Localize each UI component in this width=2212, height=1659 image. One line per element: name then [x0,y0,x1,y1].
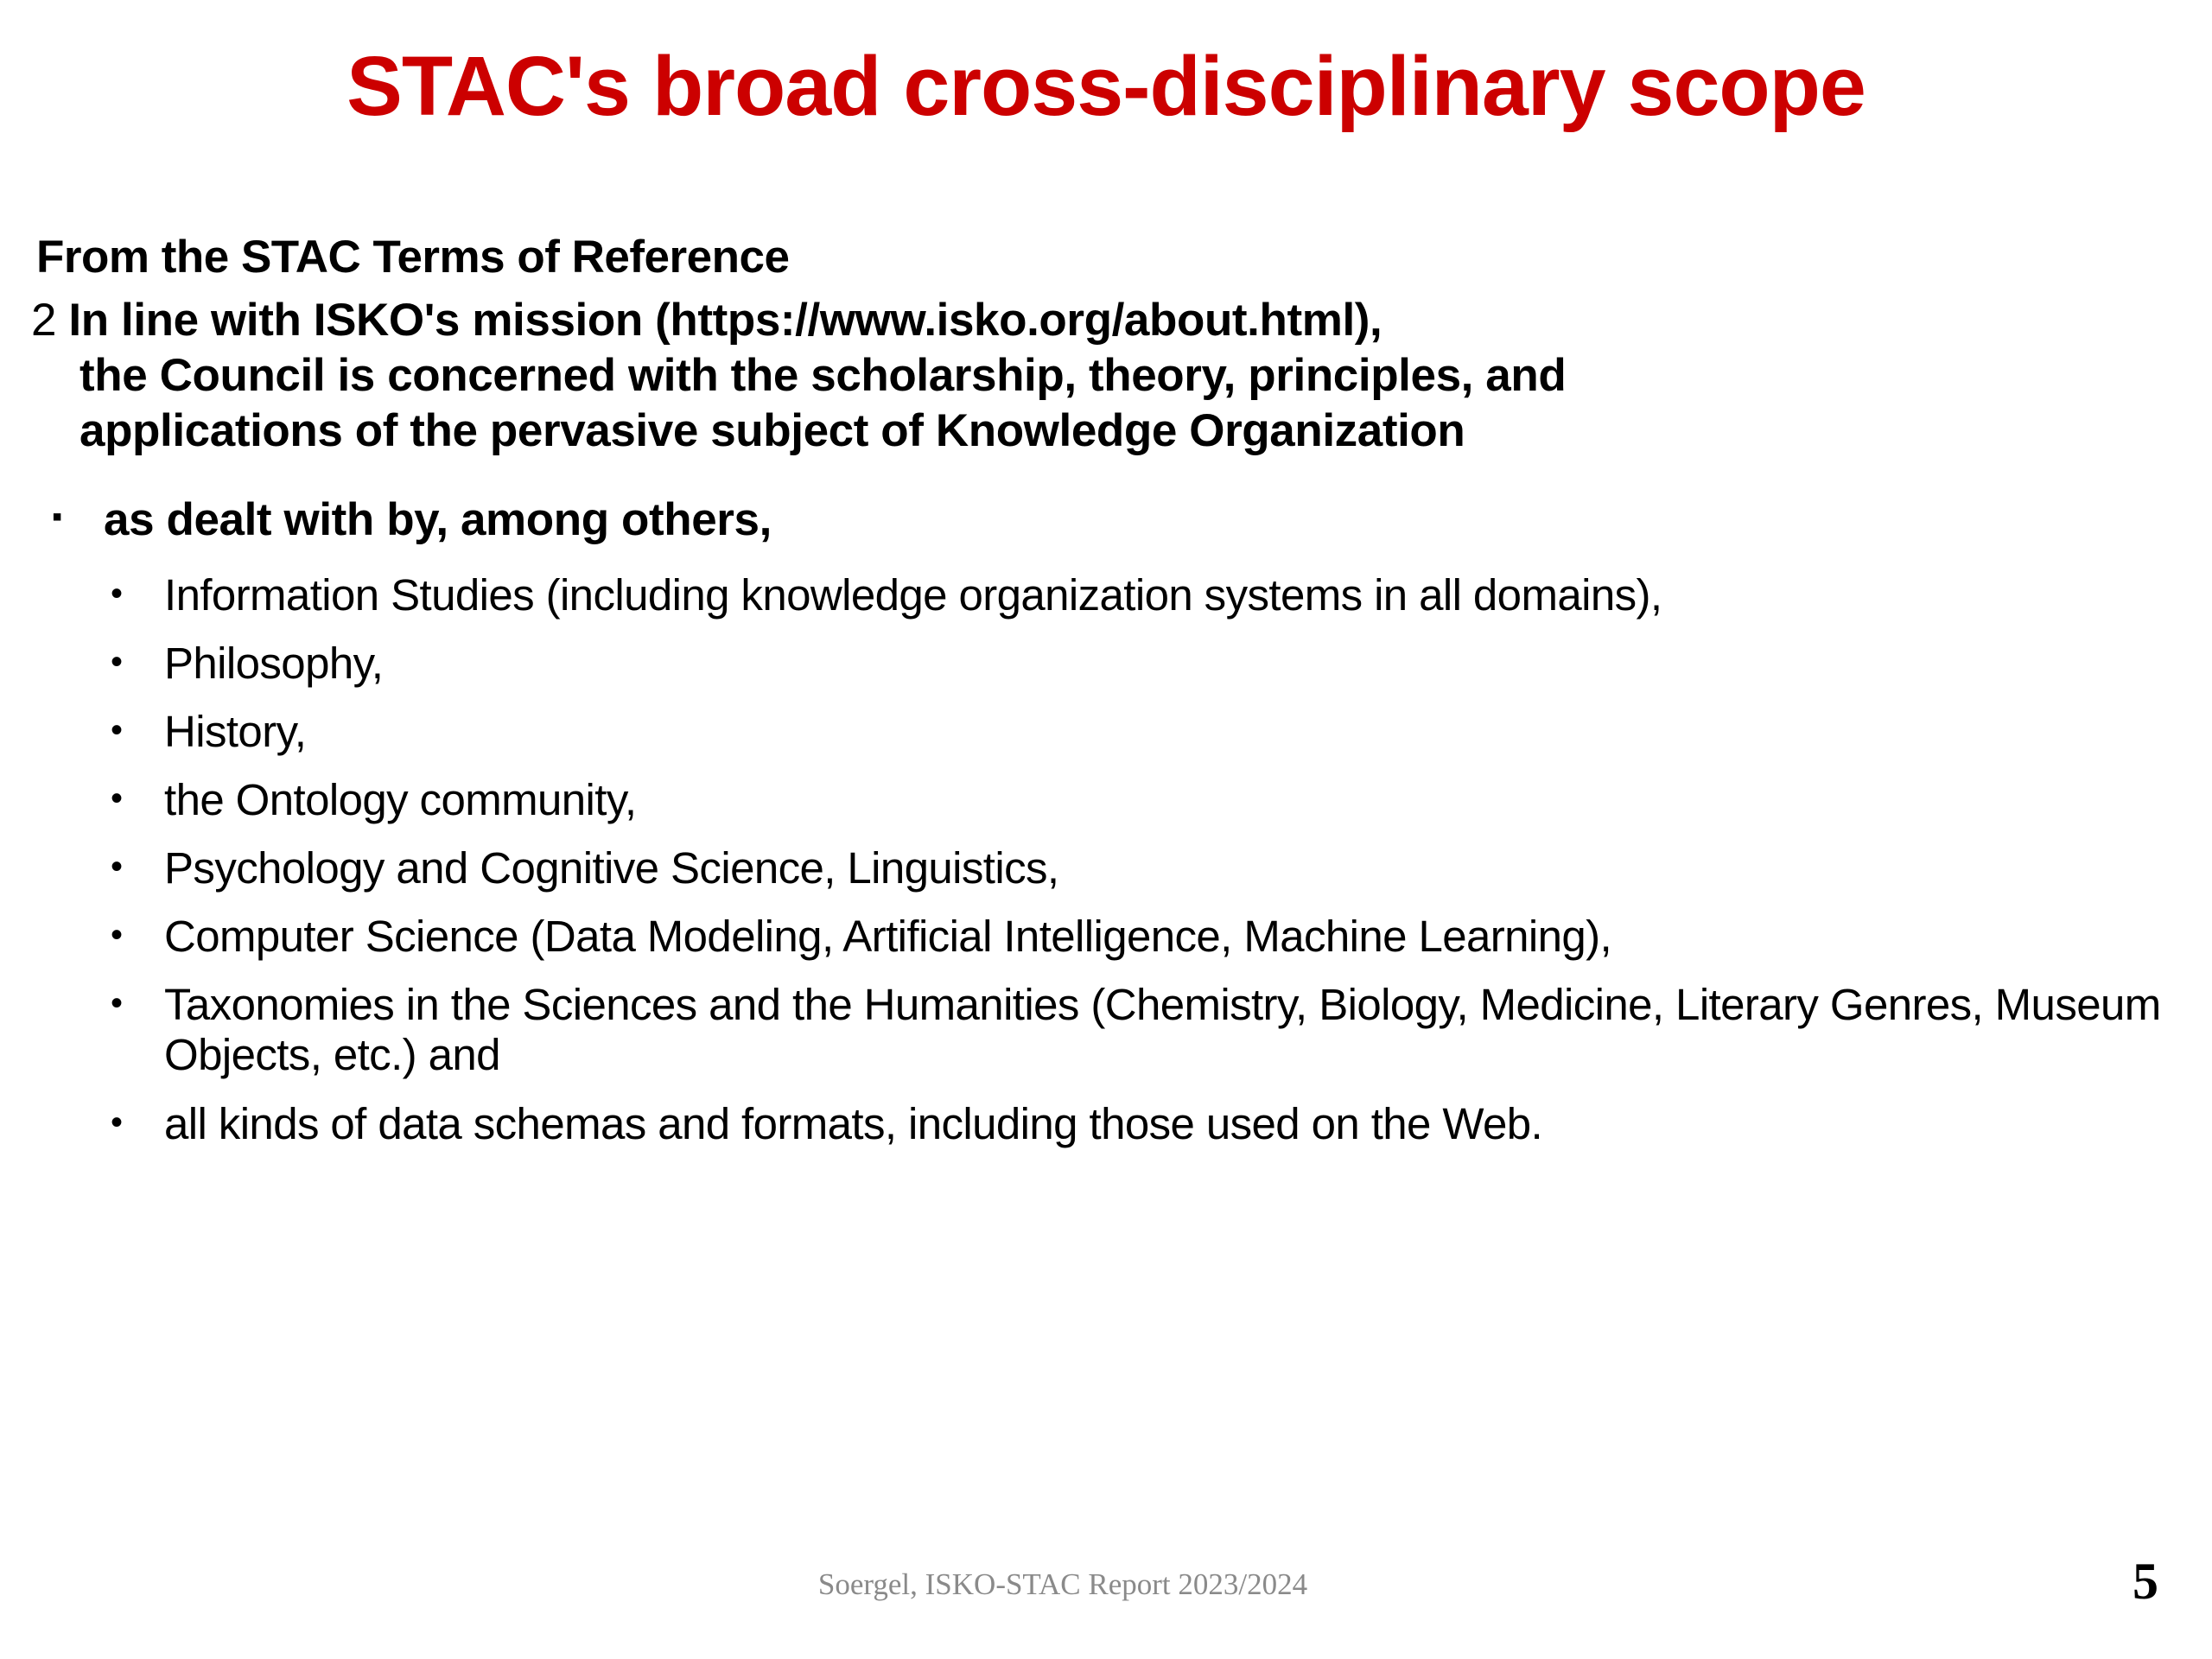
list-item-label: Information Studies (including knowledge… [164,570,2177,620]
list-item-label: the Ontology community, [164,775,2177,825]
list-item: • Taxonomies in the Sciences and the Hum… [111,980,2177,1080]
dot-bullet-icon: • [111,912,164,958]
square-bullet-icon: ▪ [52,494,104,540]
square-bullet-item: ▪ as dealt with by, among others, [52,494,2212,545]
dot-bullet-icon: • [111,980,164,1027]
dot-bullet-icon: • [111,1099,164,1146]
footer-note: Soergel, ISKO-STAC Report 2023/2024 [0,1567,2126,1602]
numbered-paragraph-line-3: applications of the pervasive subject of… [79,404,2177,459]
list-item-label: Taxonomies in the Sciences and the Human… [164,980,2177,1080]
list-item-label: all kinds of data schemas and formats, i… [164,1099,2177,1149]
list-item: • all kinds of data schemas and formats,… [111,1099,2177,1149]
dot-bullet-icon: • [111,775,164,822]
list-item-label: Computer Science (Data Modeling, Artific… [164,912,2177,962]
list-item-label: History, [164,707,2177,757]
list-item: • the Ontology community, [111,775,2177,825]
square-bullet-label: as dealt with by, among others, [104,494,772,545]
dot-bullet-icon: • [111,639,164,685]
slide-canvas: STAC's broad cross-disciplinary scope Fr… [0,0,2212,1659]
list-item: • History, [111,707,2177,757]
numbered-paragraph-text-1: In line with ISKO's mission (https://www… [68,295,1382,346]
list-item: • Philosophy, [111,639,2177,689]
dot-bullet-icon: • [111,843,164,890]
dot-bullet-icon: • [111,570,164,617]
list-item-label: Philosophy, [164,639,2177,689]
lead-line: From the STAC Terms of Reference [36,232,2212,283]
list-item: • Computer Science (Data Modeling, Artif… [111,912,2177,962]
list-item: • Information Studies (including knowled… [111,570,2177,620]
numbered-paragraph-line-2: the Council is concerned with the schola… [79,348,2177,404]
page-number: 5 [2133,1552,2158,1611]
item-number: 2 [31,295,56,346]
slide-body: From the STAC Terms of Reference 2 In li… [0,232,2212,1167]
page-title: STAC's broad cross-disciplinary scope [0,41,2212,132]
numbered-paragraph: 2 In line with ISKO's mission (https://w… [31,293,2177,458]
dot-bullet-icon: • [111,707,164,753]
list-item: • Psychology and Cognitive Science, Ling… [111,843,2177,893]
list-item-label: Psychology and Cognitive Science, Lingui… [164,843,2177,893]
sub-bullet-list: • Information Studies (including knowled… [0,570,2212,1149]
numbered-paragraph-line-1: 2 In line with ISKO's mission (https://w… [79,293,2177,348]
